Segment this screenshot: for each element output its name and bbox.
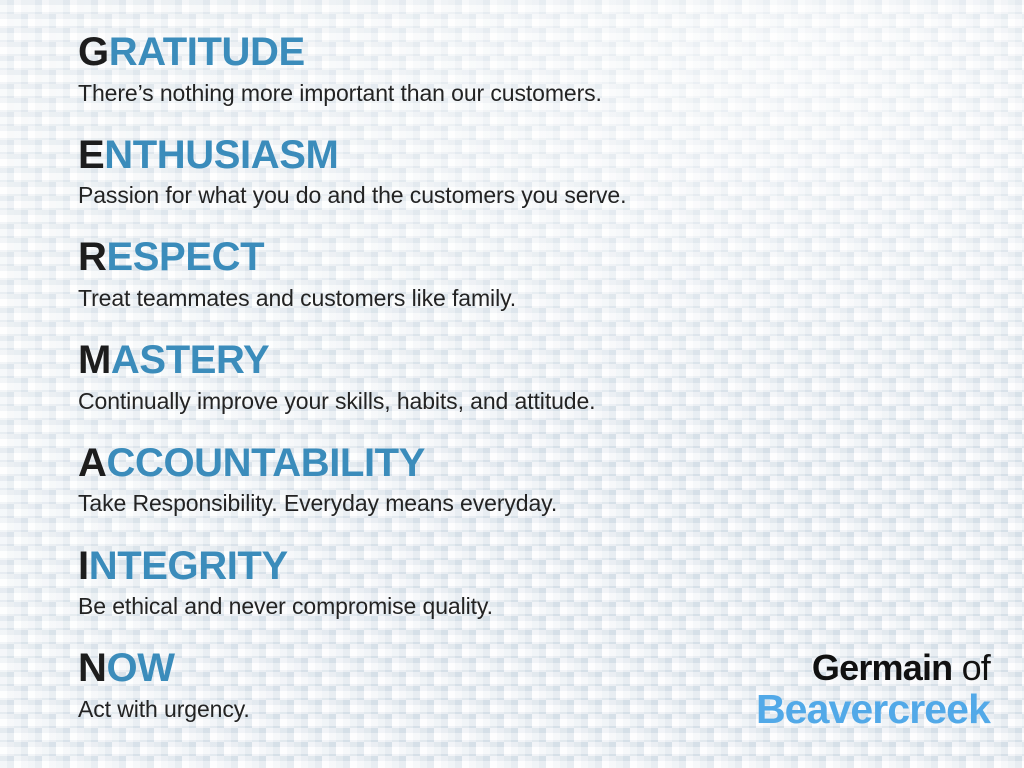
value-initial-letter: I — [78, 544, 89, 588]
value-initial-letter: A — [78, 441, 107, 485]
values-poster: GRATITUDE There’s nothing more important… — [0, 0, 1024, 768]
value-title-remainder: NTEGRITY — [89, 544, 288, 588]
value-title-remainder: ESPECT — [107, 235, 265, 279]
value-title-remainder: ASTERY — [111, 338, 269, 382]
value-title-integrity: INTEGRITY — [78, 546, 1024, 588]
logo-location-name: Beavercreek — [756, 689, 990, 730]
value-title-respect: RESPECT — [78, 237, 1024, 279]
value-entry-integrity: INTEGRITY Be ethical and never compromis… — [78, 546, 1024, 621]
value-entry-gratitude: GRATITUDE There’s nothing more important… — [78, 32, 1024, 107]
value-title-remainder: CCOUNTABILITY — [107, 441, 425, 485]
logo-brand-name: Germain — [812, 647, 952, 688]
value-entry-enthusiasm: ENTHUSIASM Passion for what you do and t… — [78, 135, 1024, 210]
value-title-remainder: OW — [107, 646, 175, 690]
values-list: GRATITUDE There’s nothing more important… — [0, 0, 1024, 723]
value-title-gratitude: GRATITUDE — [78, 32, 1024, 74]
value-initial-letter: G — [78, 30, 109, 74]
value-description-respect: Treat teammates and customers like famil… — [78, 285, 1024, 312]
dealership-logo: Germain of Beavercreek — [756, 650, 990, 730]
value-description-mastery: Continually improve your skills, habits,… — [78, 388, 1024, 415]
value-initial-letter: N — [78, 646, 107, 690]
value-description-integrity: Be ethical and never compromise quality. — [78, 593, 1024, 620]
value-initial-letter: M — [78, 338, 111, 382]
logo-connector-word: of — [962, 647, 990, 688]
value-initial-letter: E — [78, 133, 104, 177]
value-description-accountability: Take Responsibility. Everyday means ever… — [78, 490, 1024, 517]
value-title-accountability: ACCOUNTABILITY — [78, 443, 1024, 485]
value-entry-accountability: ACCOUNTABILITY Take Responsibility. Ever… — [78, 443, 1024, 518]
value-description-gratitude: There’s nothing more important than our … — [78, 80, 1024, 107]
value-title-remainder: NTHUSIASM — [104, 133, 338, 177]
value-title-enthusiasm: ENTHUSIASM — [78, 135, 1024, 177]
value-title-mastery: MASTERY — [78, 340, 1024, 382]
value-description-enthusiasm: Passion for what you do and the customer… — [78, 182, 1024, 209]
value-entry-respect: RESPECT Treat teammates and customers li… — [78, 237, 1024, 312]
logo-top-line: Germain of — [756, 650, 990, 686]
value-entry-mastery: MASTERY Continually improve your skills,… — [78, 340, 1024, 415]
value-initial-letter: R — [78, 235, 107, 279]
value-title-remainder: RATITUDE — [109, 30, 305, 74]
